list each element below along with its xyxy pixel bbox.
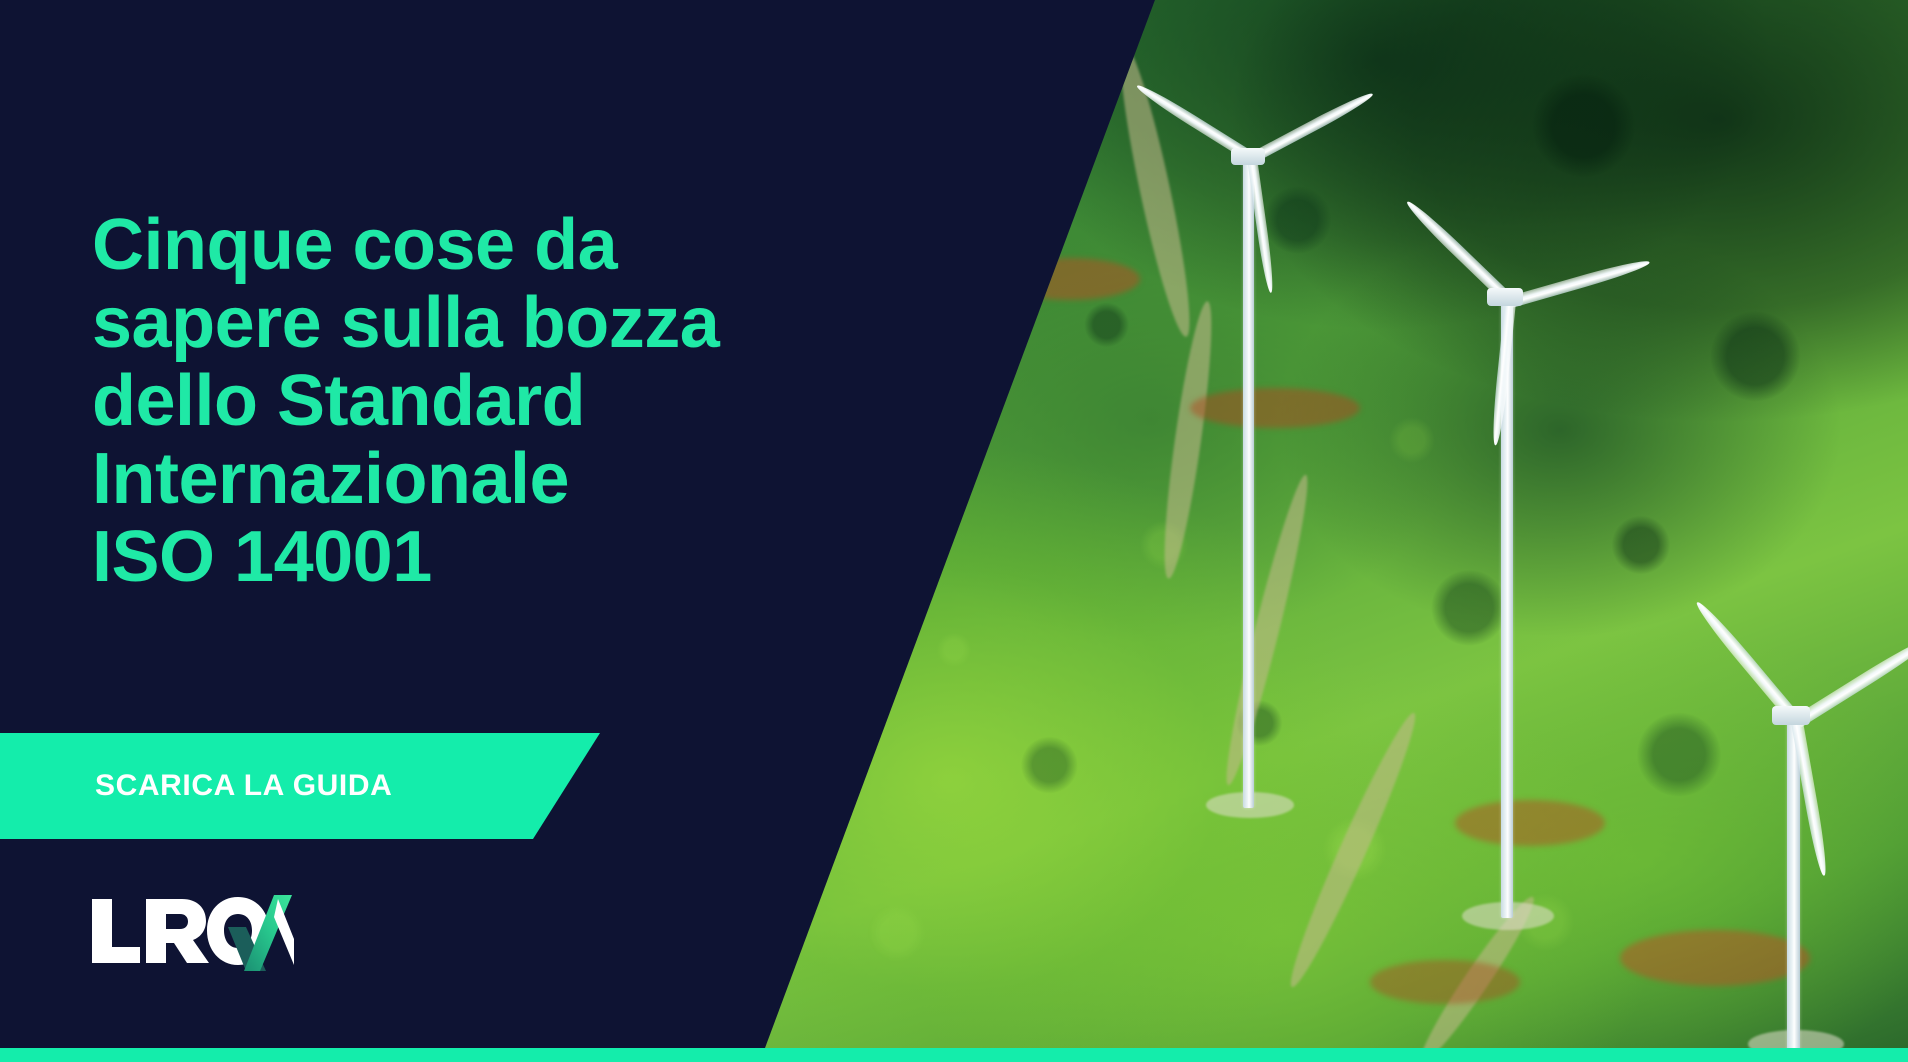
lrqa-logo [88, 893, 294, 973]
logo-letter-r [146, 899, 209, 963]
turbine-nacelle [1487, 288, 1523, 306]
marketing-banner: Cinque cose da sapere sulla bozza dello … [0, 0, 1908, 1062]
turbine-tower [1243, 158, 1254, 808]
turbine-nacelle [1231, 148, 1265, 165]
soil-patch [1000, 258, 1140, 300]
download-guide-button[interactable]: SCARICA LA GUIDA [0, 733, 600, 839]
soil-patch [1455, 800, 1605, 846]
soil-patch [1190, 388, 1360, 428]
soil-patch [1370, 960, 1520, 1004]
soil-patch [1620, 930, 1810, 986]
turbine-nacelle [1772, 706, 1810, 725]
download-guide-button-label: SCARICA LA GUIDA [95, 769, 392, 803]
bottom-accent-bar [0, 1048, 1908, 1062]
page-title: Cinque cose da sapere sulla bozza dello … [92, 206, 732, 596]
logo-letter-l [92, 899, 140, 963]
